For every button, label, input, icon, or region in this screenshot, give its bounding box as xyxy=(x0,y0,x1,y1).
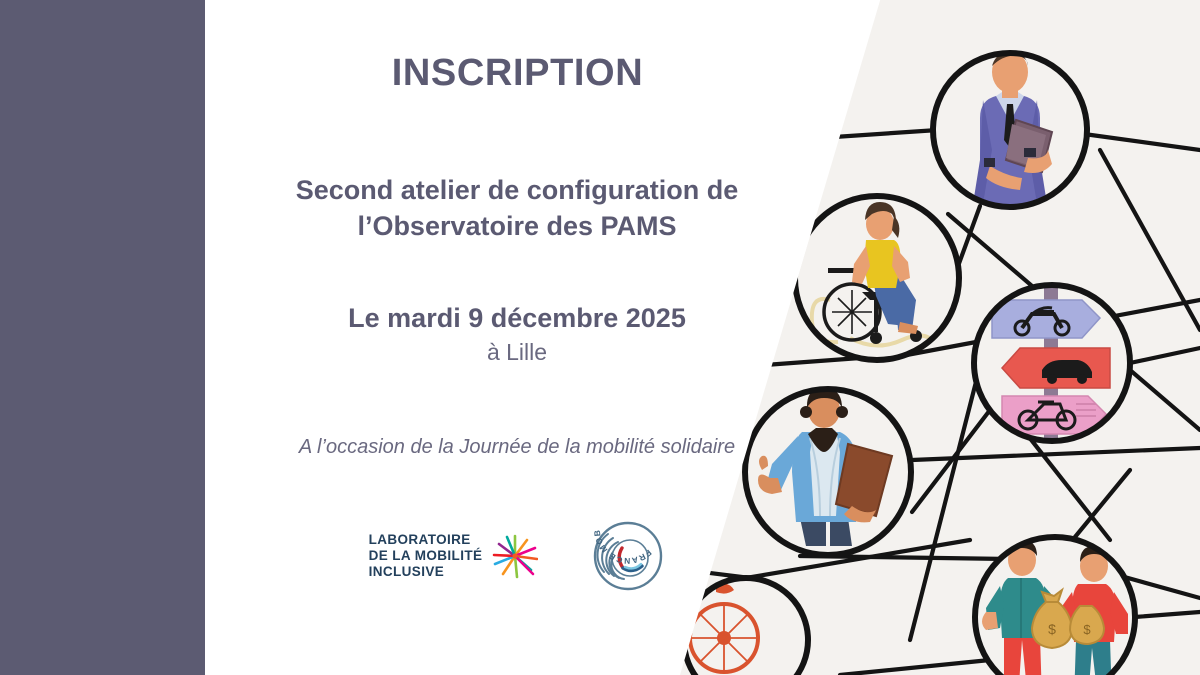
logo-france-mobilites: FRANCE MOBILITÉS xyxy=(590,518,666,594)
starburst-icon xyxy=(492,533,538,579)
poster-canvas: $ $ xyxy=(0,0,1200,675)
event-headline: Second atelier de configuration de l’Obs… xyxy=(247,172,787,245)
scooter-arrow xyxy=(992,300,1100,338)
svg-text:$: $ xyxy=(1083,622,1091,637)
man-in-suit-node xyxy=(933,51,1087,210)
transport-signpost-node xyxy=(974,285,1130,441)
logo-lmi-wordmark: LABORATOIRE DE LA MOBILITÉ INCLUSIVE xyxy=(369,532,483,580)
svg-text:$: $ xyxy=(1048,621,1056,637)
logo-row: LABORATOIRE DE LA MOBILITÉ INCLUSIVE xyxy=(205,512,830,600)
car-arrow xyxy=(1002,348,1110,388)
event-date: Le mardi 9 décembre 2025 xyxy=(247,300,787,336)
event-occasion: A l’occasion de la Journée de la mobilit… xyxy=(277,433,757,462)
event-location: à Lille xyxy=(247,336,787,369)
logo-laboratoire-de-la-mobilite-inclusive: LABORATOIRE DE LA MOBILITÉ INCLUSIVE xyxy=(369,532,539,580)
page-title: INSCRIPTION xyxy=(205,52,830,95)
left-accent-band xyxy=(0,0,205,675)
event-date-block: Le mardi 9 décembre 2025 à Lille xyxy=(247,300,787,370)
money-exchange-node: $ $ xyxy=(975,537,1135,675)
text-column: INSCRIPTION Second atelier de configurat… xyxy=(205,0,830,675)
